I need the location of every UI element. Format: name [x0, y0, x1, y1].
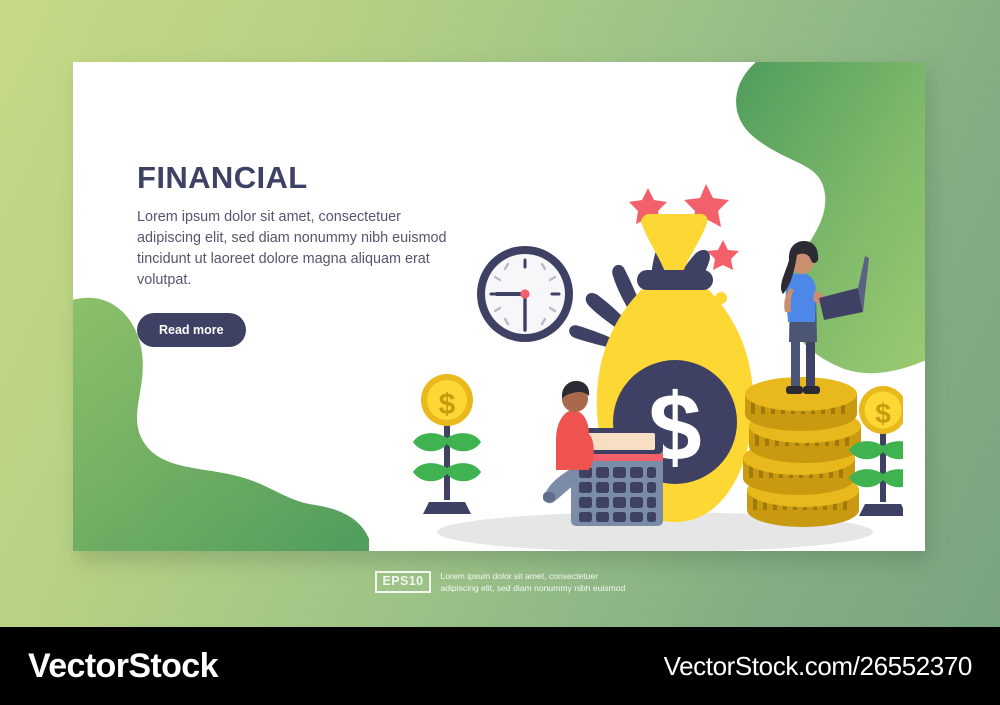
wall-clock-icon [477, 246, 573, 342]
svg-text:$: $ [875, 398, 891, 429]
vectorstock-logo: VectorStock [28, 647, 218, 686]
eps-caption: Lorem ipsum dolor sit amet, consectetuer… [440, 570, 625, 594]
poster-stage: FINANCIAL Lorem ipsum dolor sit amet, co… [0, 0, 1000, 705]
page-title: FINANCIAL [137, 162, 447, 195]
money-plant-left-icon: $ [413, 374, 481, 514]
eps-footer: EPS10 Lorem ipsum dolor sit amet, consec… [0, 570, 1000, 594]
coin-stack-icon [743, 377, 861, 527]
woman-with-laptop-figure [781, 241, 869, 394]
svg-text:$: $ [439, 388, 456, 421]
financial-illustration: $ [403, 122, 903, 551]
read-more-button[interactable]: Read more [137, 313, 246, 347]
eps-badge: EPS10 [375, 571, 432, 593]
watermark-bar: VectorStock VectorStock.com/26552370 [0, 627, 1000, 705]
landing-page-card: FINANCIAL Lorem ipsum dolor sit amet, co… [73, 62, 925, 551]
page-description: Lorem ipsum dolor sit amet, consectetuer… [137, 207, 447, 292]
vectorstock-url: VectorStock.com/26552370 [664, 651, 972, 682]
hero-text-block: FINANCIAL Lorem ipsum dolor sit amet, co… [137, 162, 447, 347]
